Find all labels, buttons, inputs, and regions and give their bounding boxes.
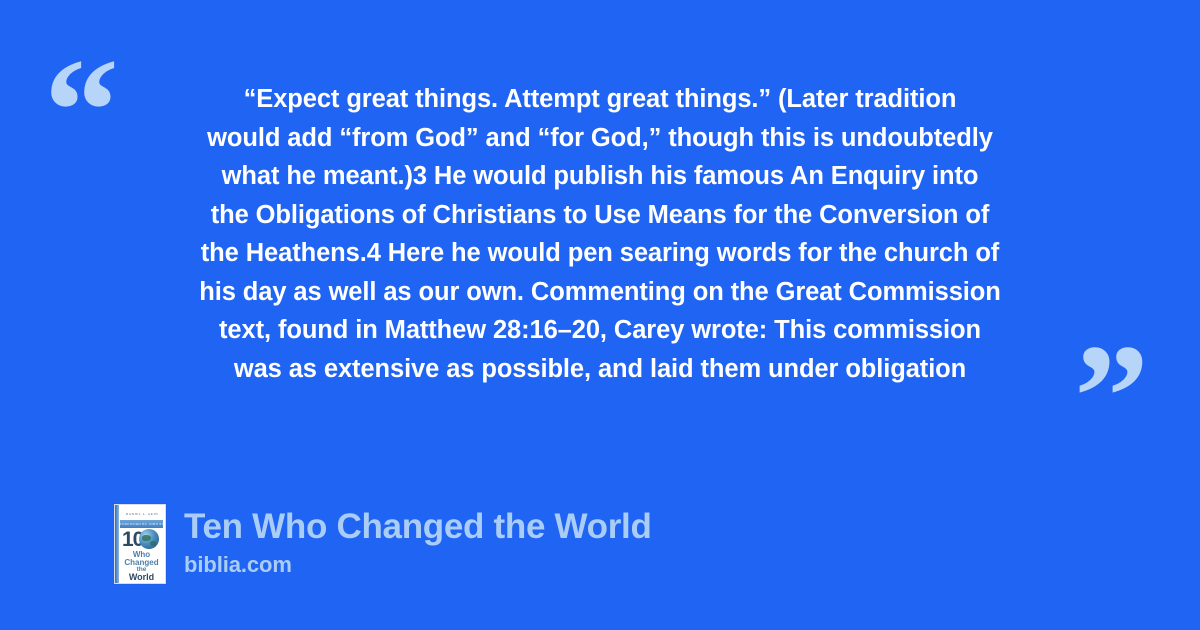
footer-text-group: Ten Who Changed the World biblia.com bbox=[184, 504, 652, 580]
book-cover-band-text: FOREWORD BY JOHN PIPER bbox=[120, 520, 163, 528]
quote-card: “ “Expect great things. Attempt great th… bbox=[0, 0, 1200, 630]
book-spine bbox=[115, 505, 119, 583]
footer-attribution: DANIEL L. AKIN FOREWORD BY JOHN PIPER 10… bbox=[114, 504, 652, 584]
book-cover-band: FOREWORD BY JOHN PIPER bbox=[120, 520, 163, 528]
book-cover-thumbnail: DANIEL L. AKIN FOREWORD BY JOHN PIPER 10… bbox=[114, 504, 166, 584]
site-url[interactable]: biblia.com bbox=[184, 550, 652, 580]
book-cover-line-4: World bbox=[120, 573, 163, 582]
globe-icon bbox=[139, 529, 159, 549]
book-title: Ten Who Changed the World bbox=[184, 506, 652, 548]
close-quote-icon: ” bbox=[1074, 322, 1149, 472]
quote-text: “Expect great things. Attempt great thin… bbox=[108, 80, 1092, 388]
quote-block: “Expect great things. Attempt great thin… bbox=[108, 80, 1092, 388]
book-cover-author: DANIEL L. AKIN bbox=[123, 512, 161, 516]
